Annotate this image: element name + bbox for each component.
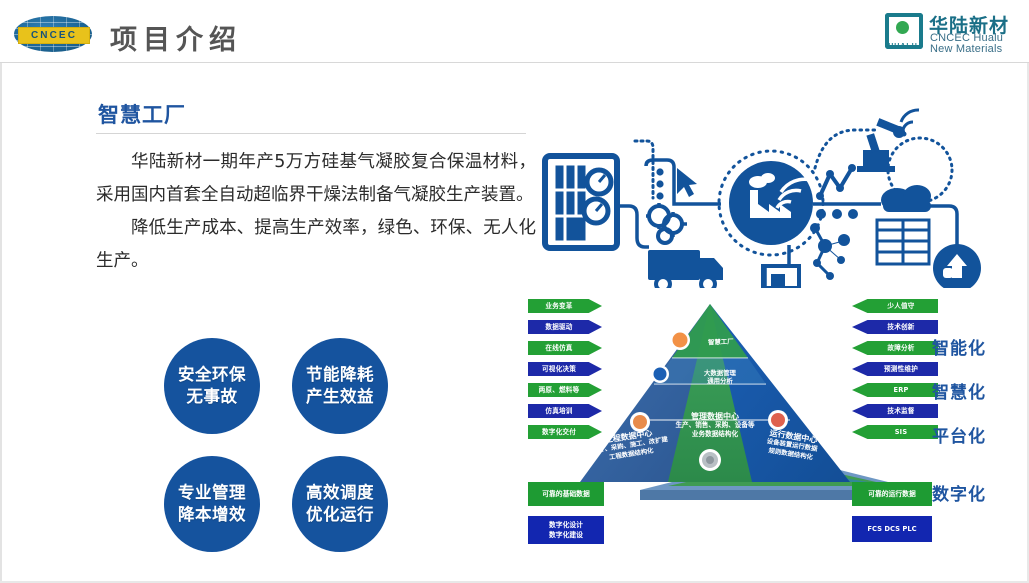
benefit-circles: 安全环保 无事故 节能降耗 产生效益 专业管理 降本增效 高效调度 优化运行	[160, 338, 390, 553]
cncec-wordmark: CNCEC	[19, 28, 89, 43]
tag-right-2[interactable]: 故障分析	[852, 341, 938, 355]
benefit-circle-management-line1: 专业管理	[178, 482, 246, 504]
printer-icon	[763, 245, 799, 288]
slide-header: CNCEC 项目介绍 HUALU 华陆新材 CNCEC Hualu New Ma…	[0, 0, 1029, 62]
benefit-circle-energy-line2: 产生效益	[306, 386, 374, 408]
cursor-icon	[677, 168, 697, 197]
brand-name-en-line2: New Materials	[930, 43, 1002, 55]
server-rack-icon	[877, 220, 929, 264]
benefit-circle-safety-line2: 无事故	[187, 386, 238, 408]
box-bottom-left-base-data[interactable]: 可靠的基础数据	[528, 482, 604, 506]
body-copy: 华陆新材一期年产5万方硅基气凝胶复合保温材料，采用国内首套全自动超临界干燥法制备…	[96, 146, 536, 278]
benefit-circle-energy[interactable]: 节能降耗 产生效益	[292, 338, 388, 434]
benefit-circle-scheduling-line1: 高效调度	[306, 482, 374, 504]
cloud-icon	[881, 185, 931, 212]
benefit-circle-management[interactable]: 专业管理 降本增效	[164, 456, 260, 552]
tag-right-1[interactable]: 技术创新	[852, 320, 938, 334]
header-divider	[0, 62, 1029, 63]
box-bottom-right-fcs-dcs-plc[interactable]: FCS DCS PLC	[852, 516, 932, 542]
wifi-signal-icon	[901, 110, 919, 137]
benefit-circle-energy-line1: 节能降耗	[306, 364, 374, 386]
tag-right-4[interactable]: ERP	[852, 383, 938, 397]
molecule-icon	[810, 223, 850, 280]
tag-left-5[interactable]: 仿真培训	[528, 404, 602, 418]
factory-hub-icon	[719, 151, 823, 255]
stage-title-platform: 平台化	[932, 422, 986, 447]
stage-title-digital: 数字化	[932, 480, 986, 505]
left-edge-rule	[0, 0, 2, 583]
pyramid-label-upper-right-l1: 大数据管理	[704, 370, 736, 378]
tag-left-2[interactable]: 在线仿真	[528, 341, 602, 355]
robot-arm-icon	[857, 118, 905, 172]
pyramid-label-center-title: 管理数据中心	[670, 412, 760, 421]
pyramid-label-upper-right-l2: 通用分析	[704, 378, 736, 386]
benefit-circle-scheduling-line2: 优化运行	[306, 504, 374, 526]
analytics-icon	[816, 164, 856, 200]
upload-cloud-icon	[933, 244, 981, 288]
box-bottom-left-digital-design[interactable]: 数字化设计 数字化建设	[528, 516, 604, 544]
dots-icon	[816, 209, 858, 219]
tag-right-0[interactable]: 少人值守	[852, 299, 938, 313]
benefit-circle-scheduling[interactable]: 高效调度 优化运行	[292, 456, 388, 552]
smart-factory-illustration	[525, 108, 1020, 288]
benefit-circle-management-line2: 降本增效	[178, 504, 246, 526]
stage-title-intelligent: 智能化	[932, 334, 986, 359]
tag-right-6[interactable]: SIS	[852, 425, 938, 439]
section-title: 智慧工厂	[98, 99, 186, 129]
maturity-pyramid-diagram: 智慧工厂 大数据管理 通用分析 管理数据中心 生产、销售、采购、设备等 业务数据…	[520, 292, 1025, 580]
paragraph-1: 华陆新材一期年产5万方硅基气凝胶复合保温材料，采用国内首套全自动超临界干燥法制备…	[96, 146, 536, 212]
hualu-mark-icon: HUALU	[883, 13, 923, 45]
tag-left-4[interactable]: 两原、燃料等	[528, 383, 602, 397]
slide-root: CNCEC 项目介绍 HUALU 华陆新材 CNCEC Hualu New Ma…	[0, 0, 1029, 583]
truck-icon	[648, 250, 723, 288]
paragraph-2: 降低生产成本、提高生产效率，绿色、环保、无人化生产。	[96, 212, 536, 278]
control-panel-icon	[545, 156, 617, 248]
benefit-circle-safety[interactable]: 安全环保 无事故	[164, 338, 260, 434]
gears-icon	[646, 202, 690, 243]
box-bottom-right-run-data[interactable]: 可靠的运行数据	[852, 482, 932, 506]
hualu-mark-label: HUALU	[883, 43, 923, 52]
benefit-circle-safety-line1: 安全环保	[178, 364, 246, 386]
page-title: 项目介绍	[110, 18, 242, 57]
tag-right-3[interactable]: 预测性维护	[852, 362, 938, 376]
pyramid-label-apex: 智慧工厂	[708, 337, 734, 347]
tag-left-1[interactable]: 数据驱动	[528, 320, 602, 334]
hualu-brand-logo: HUALU 华陆新材 CNCEC Hualu New Materials	[883, 11, 1015, 55]
tag-left-0[interactable]: 业务变革	[528, 299, 602, 313]
tag-right-5[interactable]: 技术监督	[852, 404, 938, 418]
stage-title-smart: 智慧化	[932, 378, 986, 403]
section-divider	[96, 133, 526, 134]
tag-left-3[interactable]: 可视化决策	[528, 362, 602, 376]
tag-left-6[interactable]: 数字化交付	[528, 425, 602, 439]
cncec-wordmark-band: CNCEC	[18, 27, 90, 44]
cncec-logo: CNCEC	[14, 16, 92, 52]
pyramid-label-upper-right: 大数据管理 通用分析	[704, 370, 736, 386]
